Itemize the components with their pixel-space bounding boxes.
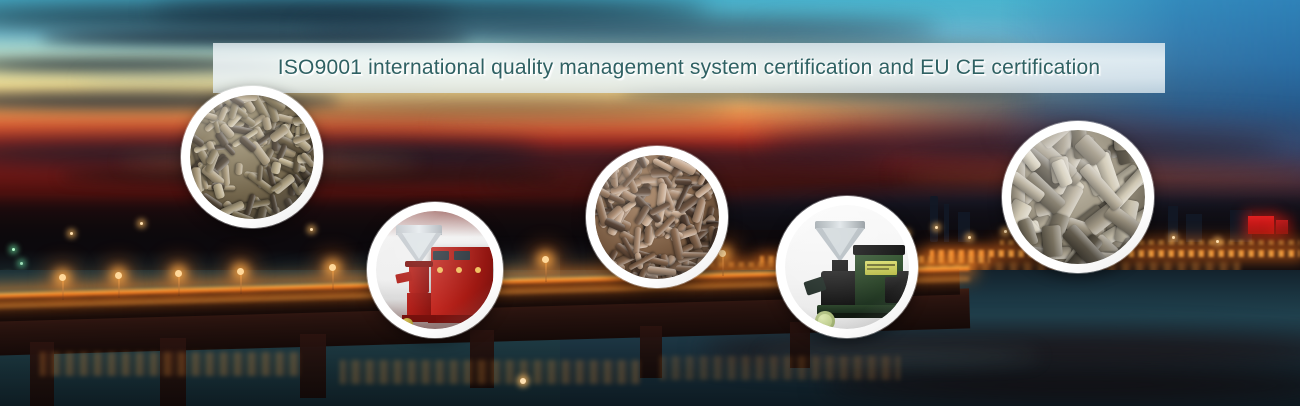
wood-pellets-large-photo — [1011, 130, 1145, 264]
product-circle-wood-pellets-large[interactable] — [1002, 121, 1154, 273]
headline-text: ISO9001 international quality management… — [278, 56, 1100, 80]
product-circle-green-pellet-mill[interactable] — [776, 196, 918, 338]
promo-banner: ISO9001 international quality management… — [0, 0, 1300, 406]
green-pellet-mill-photo — [785, 205, 909, 329]
red-building-sign — [1248, 216, 1274, 234]
product-circle-red-pellet-mill[interactable] — [367, 202, 503, 338]
product-circle-wood-pellets-light[interactable] — [181, 86, 323, 228]
wood-pellets-brown-photo — [595, 155, 719, 279]
headline-strip: ISO9001 international quality management… — [213, 43, 1165, 93]
red-pellet-mill-photo — [376, 211, 494, 329]
product-circle-wood-pellets-brown[interactable] — [586, 146, 728, 288]
wood-pellets-light-photo — [190, 95, 314, 219]
